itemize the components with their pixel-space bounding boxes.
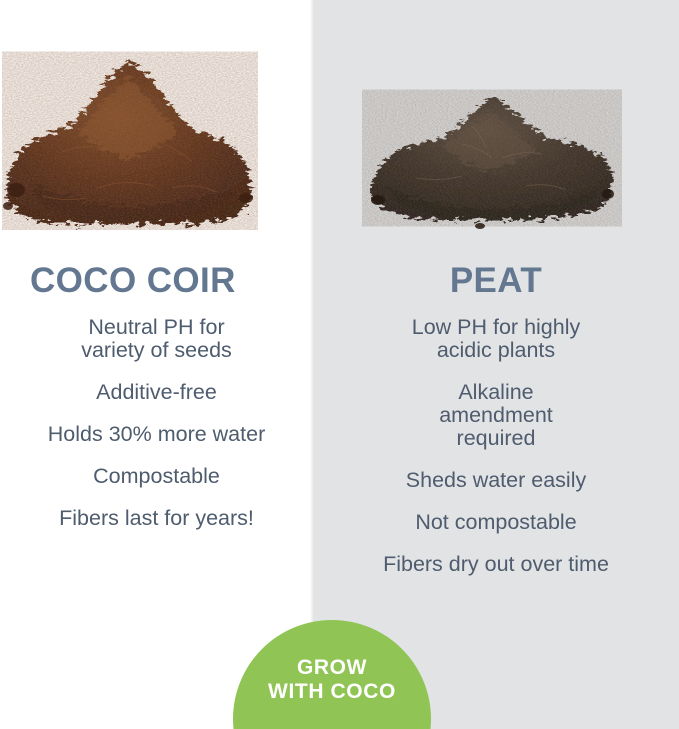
feature-item: Holds 30% more water bbox=[0, 423, 313, 446]
coco-coir-pile-image bbox=[2, 48, 258, 230]
feature-item: Compostable bbox=[0, 465, 313, 488]
feature-line: variety of seeds bbox=[0, 339, 313, 362]
feature-line: Compostable bbox=[0, 465, 313, 488]
feature-line: Fibers dry out over time bbox=[313, 553, 679, 576]
feature-line: Not compostable bbox=[313, 511, 679, 534]
coco-coir-heading: COCO COIR bbox=[30, 263, 236, 298]
feature-line: Alkaline bbox=[313, 381, 679, 404]
feature-item: Low PH for highly acidic plants bbox=[313, 316, 679, 362]
feature-item: Fibers dry out over time bbox=[313, 553, 679, 576]
feature-line: Holds 30% more water bbox=[0, 423, 313, 446]
feature-line: Low PH for highly bbox=[313, 316, 679, 339]
badge-line: GROW bbox=[233, 656, 431, 680]
feature-item: Additive-free bbox=[0, 381, 313, 404]
feature-line: Fibers last for years! bbox=[0, 507, 313, 530]
feature-line: required bbox=[313, 427, 679, 450]
peat-heading: PEAT bbox=[313, 263, 679, 298]
feature-item: Neutral PH for variety of seeds bbox=[0, 316, 313, 362]
feature-item: Sheds water easily bbox=[313, 469, 679, 492]
peat-feature-list: Low PH for highly acidic plants Alkaline… bbox=[313, 316, 679, 576]
feature-line: acidic plants bbox=[313, 339, 679, 362]
feature-line: Sheds water easily bbox=[313, 469, 679, 492]
badge-text: GROW WITH COCO bbox=[233, 656, 431, 704]
badge-line: WITH COCO bbox=[233, 680, 431, 704]
feature-line: Neutral PH for bbox=[0, 316, 313, 339]
feature-line: amendment bbox=[313, 404, 679, 427]
comparison-infographic: COCO COIR PEAT Neutral PH for variety of… bbox=[0, 0, 679, 729]
coco-coir-feature-list: Neutral PH for variety of seeds Additive… bbox=[0, 316, 313, 530]
feature-item: Not compostable bbox=[313, 511, 679, 534]
feature-line: Additive-free bbox=[0, 381, 313, 404]
peat-pile-image bbox=[362, 88, 622, 230]
feature-item: Alkaline amendment required bbox=[313, 381, 679, 450]
feature-item: Fibers last for years! bbox=[0, 507, 313, 530]
